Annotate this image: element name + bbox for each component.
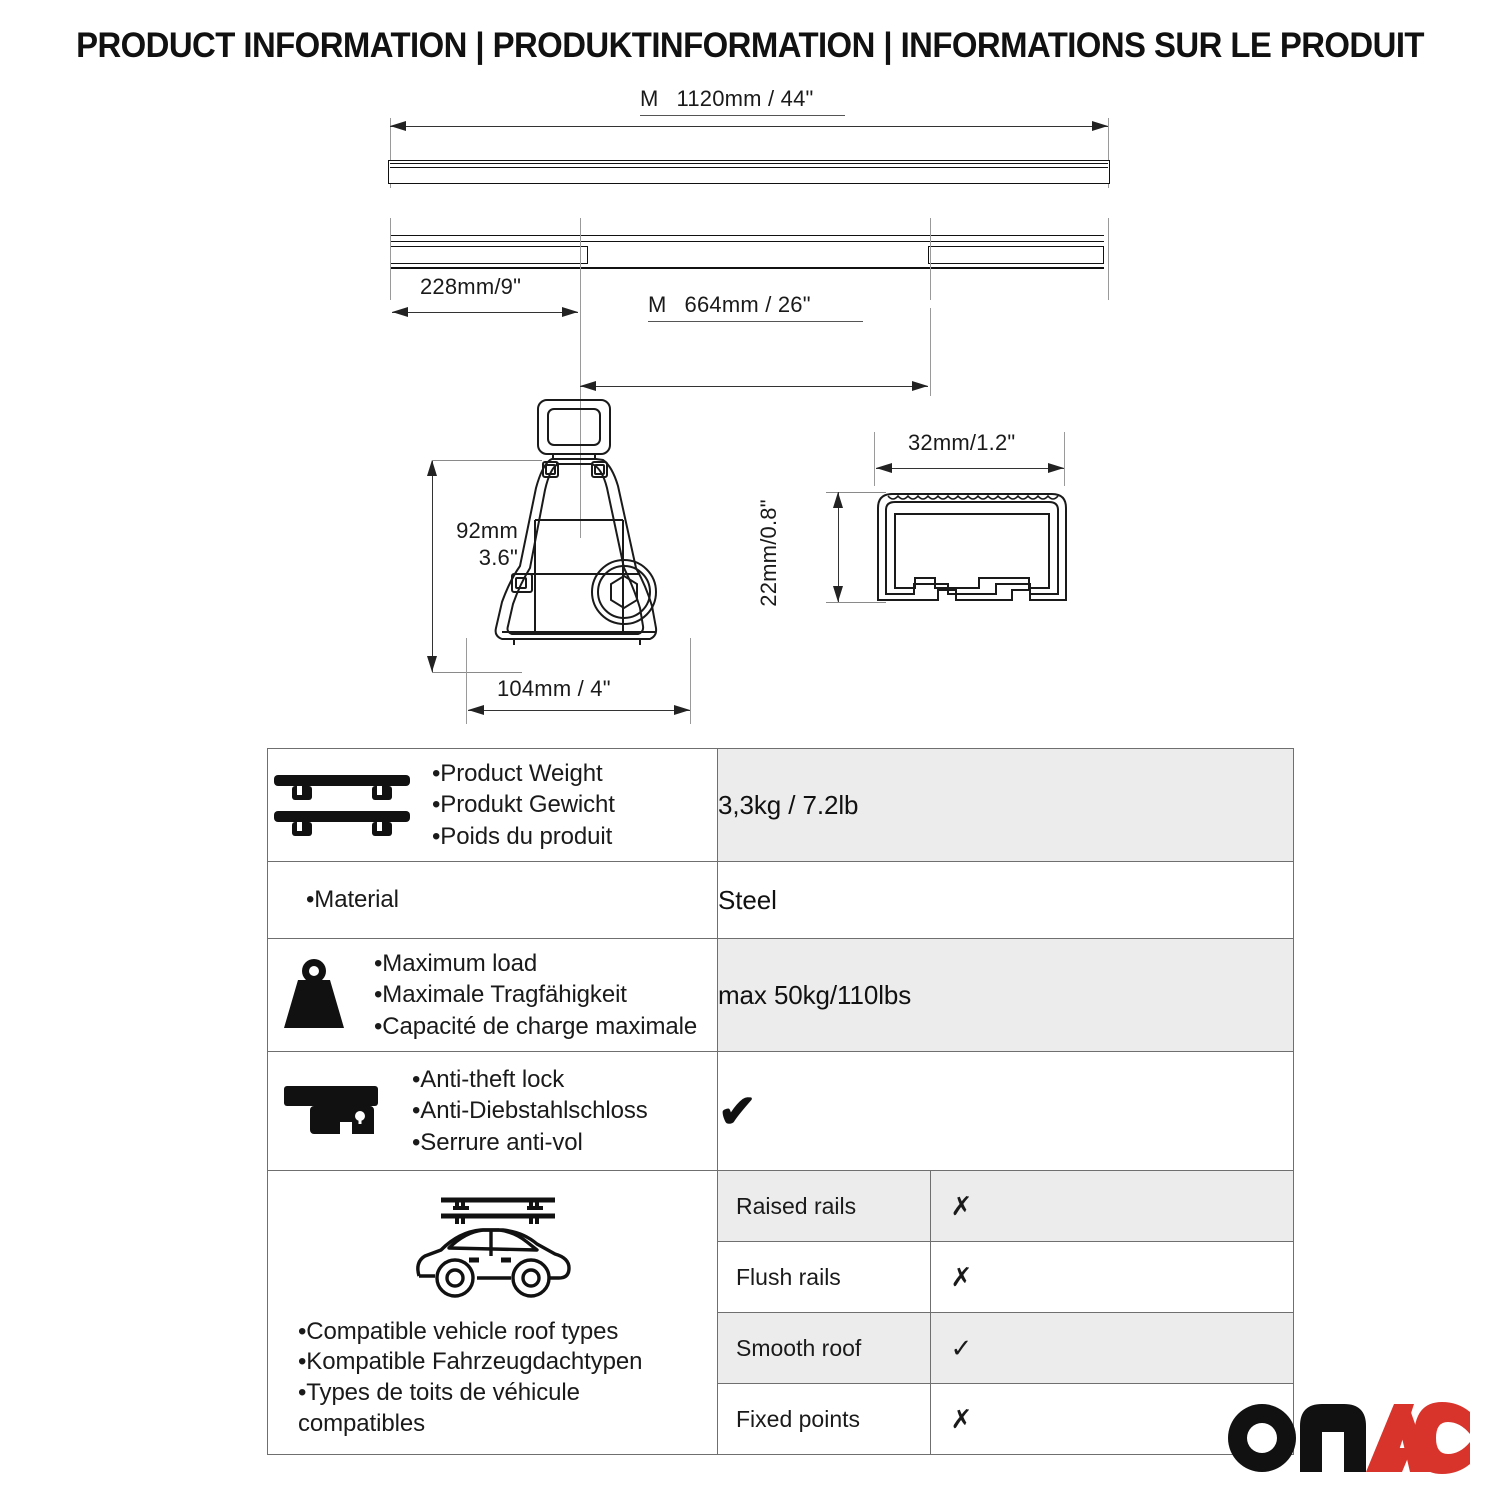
spec-value-weight: 3,3kg / 7.2lb xyxy=(718,749,1294,862)
technical-drawing: M1120mm / 44" M 228mm/9" M664mm / 26" M xyxy=(0,78,1500,738)
roof-type-row: Smooth roof ✓ xyxy=(718,1313,1293,1384)
spec-label: •Produkt Gewicht xyxy=(432,789,615,820)
extension-line xyxy=(930,308,931,396)
extension-line xyxy=(432,460,542,461)
check-icon: ✔ xyxy=(718,1085,756,1137)
profile-width-dimension-label: 32mm/1.2" xyxy=(908,430,1015,456)
spec-label-list: •Material xyxy=(268,884,717,915)
spec-label-list: •Anti-theft lock •Anti-Diebstahlschloss … xyxy=(412,1064,648,1158)
crossbar-top-view xyxy=(388,153,1110,185)
extension-line xyxy=(466,638,467,724)
foot-spacing-arrow xyxy=(580,386,928,387)
roof-type-row: Raised rails ✗ xyxy=(718,1171,1293,1242)
roof-type-row: Flush rails ✗ xyxy=(718,1242,1293,1313)
profile-height-dimension-label: 22mm/0.8" xyxy=(756,488,782,618)
roof-type-support-mark: ✗ xyxy=(930,1171,1293,1242)
crossbar-cross-section-drawing xyxy=(862,470,1082,630)
extension-line xyxy=(690,638,691,724)
roof-type-name: Flush rails xyxy=(718,1242,930,1313)
extension-line xyxy=(390,218,391,300)
tower-height-dimension-label: 92mm 3.6" xyxy=(438,518,518,572)
roof-type-subtable-cell: Raised rails ✗ Flush rails ✗ Smooth roof… xyxy=(718,1171,1294,1455)
product-spec-table: •Product Weight •Produkt Gewicht •Poids … xyxy=(267,748,1294,1455)
extension-line xyxy=(930,218,931,300)
roof-type-name: Smooth roof xyxy=(718,1313,930,1384)
extension-line xyxy=(432,672,522,673)
foot-offset-arrow xyxy=(392,312,578,313)
spec-value-max-load: max 50kg/110lbs xyxy=(718,939,1294,1052)
table-row: •Compatible vehicle roof types •Kompatib… xyxy=(268,1171,1294,1455)
bar-length-arrow xyxy=(390,126,1108,127)
spec-label: •Anti-Diebstahlschloss xyxy=(412,1095,648,1126)
spec-label-list: •Maximum load •Maximale Tragfähigkeit •C… xyxy=(374,948,697,1042)
table-row: •Product Weight •Produkt Gewicht •Poids … xyxy=(268,749,1294,862)
roof-type-name: Fixed points xyxy=(718,1384,930,1455)
spec-label: •Anti-theft lock xyxy=(412,1064,648,1095)
extension-line xyxy=(826,602,886,603)
extension-line xyxy=(1108,218,1109,300)
roof-type-table: Raised rails ✗ Flush rails ✗ Smooth roof… xyxy=(718,1171,1293,1454)
table-row: •Maximum load •Maximale Tragfähigkeit •C… xyxy=(268,939,1294,1052)
spec-label-cell: •Anti-theft lock •Anti-Diebstahlschloss … xyxy=(268,1052,718,1171)
roof-type-support-mark: ✗ xyxy=(930,1242,1293,1313)
spec-label: •Types de toits de véhicule xyxy=(298,1378,717,1409)
profile-height-arrow xyxy=(838,492,839,602)
spec-label: •Poids du produit xyxy=(432,821,615,852)
spec-value-material: Steel xyxy=(718,862,1294,939)
compatibility-label-list: •Compatible vehicle roof types •Kompatib… xyxy=(268,1317,717,1440)
crossbar-side-view xyxy=(382,226,1112,278)
spec-label-cell: •Material xyxy=(268,862,718,939)
tower-width-arrow xyxy=(468,710,690,711)
spec-label: compatibles xyxy=(298,1409,717,1440)
extension-line xyxy=(874,432,875,486)
table-row: •Anti-theft lock •Anti-Diebstahlschloss … xyxy=(268,1052,1294,1171)
spec-label: •Product Weight xyxy=(432,758,615,789)
bar-length-dimension-label: M1120mm / 44" xyxy=(640,86,845,116)
spec-label: •Maximale Tragfähigkeit xyxy=(374,979,697,1010)
tower-width-dimension-label: 104mm / 4" xyxy=(497,676,611,702)
omac-logo xyxy=(1226,1396,1470,1478)
spec-label: •Material xyxy=(306,884,717,915)
spec-label-cell: •Maximum load •Maximale Tragfähigkeit •C… xyxy=(268,939,718,1052)
car-with-roof-bars-icon xyxy=(268,1190,717,1311)
roof-type-name: Raised rails xyxy=(718,1171,930,1242)
foot-offset-dimension-label: 228mm/9" xyxy=(420,274,521,300)
spec-label-cell: •Product Weight •Produkt Gewicht •Poids … xyxy=(268,749,718,862)
tower-height-arrow xyxy=(432,460,433,672)
spec-label: •Capacité de charge maximale xyxy=(374,1011,697,1042)
spec-label: •Maximum load xyxy=(374,948,697,979)
spec-value-anti-theft: ✔ xyxy=(718,1052,1294,1171)
weight-icon xyxy=(268,958,360,1032)
omac-logo-mark xyxy=(1226,1396,1470,1478)
profile-width-arrow xyxy=(876,468,1064,469)
page-title: PRODUCT INFORMATION | PRODUKTINFORMATION… xyxy=(45,26,1455,66)
spec-label: •Serrure anti-vol xyxy=(412,1127,648,1158)
roof-type-row: Fixed points ✗ xyxy=(718,1384,1293,1455)
spec-label: •Compatible vehicle roof types xyxy=(298,1317,717,1348)
spec-label: •Kompatible Fahrzeugdachtypen xyxy=(298,1347,717,1378)
roof-type-support-mark: ✓ xyxy=(930,1313,1293,1384)
foot-spacing-dimension-label: M664mm / 26" xyxy=(648,292,863,322)
compatibility-label-cell: •Compatible vehicle roof types •Kompatib… xyxy=(268,1171,718,1455)
extension-line xyxy=(1064,432,1065,486)
spec-label-list: •Product Weight •Produkt Gewicht •Poids … xyxy=(432,758,615,852)
crossbars-icon xyxy=(268,767,418,843)
table-row: •Material Steel xyxy=(268,862,1294,939)
lock-bar-icon xyxy=(268,1078,398,1144)
